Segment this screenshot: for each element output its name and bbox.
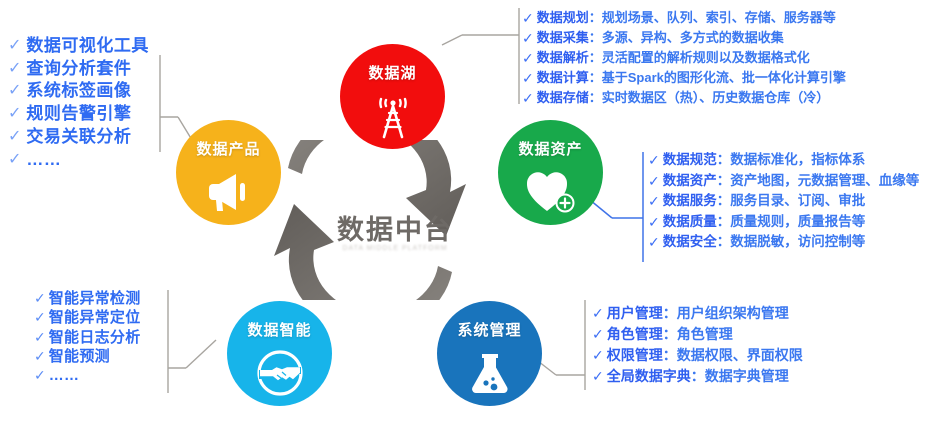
list-item-keyword: 交易关联分析 [26,127,131,148]
check-icon: ✓ [8,104,21,124]
check-icon: ✓ [522,90,534,107]
list-item: ✓…… [34,367,141,385]
list-item-keyword: 数据资产 [663,173,717,189]
check-icon: ✓ [34,290,46,307]
list-item-keyword: …… [49,367,80,385]
heart-plus-icon [525,159,577,225]
list-item: ✓智能异常检测 [34,290,141,308]
list-item-separator: ： [663,305,677,322]
check-icon: ✓ [8,81,21,101]
list-item-keyword: 数据规划 [537,10,589,26]
list-item-keyword: 全局数据字典 [607,368,691,385]
list-item-keyword: 数据规范 [663,152,717,168]
list-item-keyword: 用户管理 [607,305,663,322]
list-item-keyword: 权限管理 [607,347,663,364]
list-item: ✓数据资产：资产地图，元数据管理、血缘等 [648,173,919,190]
list-item-keyword: 查询分析套件 [26,59,131,80]
list-system-management: ✓用户管理：用户组织架构管理✓角色管理：角色管理✓权限管理：数据权限、界面权限✓… [592,305,803,389]
flask-icon [469,340,511,406]
list-item: ✓数据质量：质量规则，质量报告等 [648,214,919,231]
list-item: ✓数据存储：实时数据区（热）、历史数据仓库（冷） [522,90,846,107]
list-item-description: 用户组织架构管理 [677,305,789,322]
list-item-keyword: 数据存储 [537,90,589,106]
check-icon: ✓ [34,348,46,365]
list-item-description: 基于Spark的图形化流、批一体化计算引擎 [602,70,846,86]
list-item: ✓数据解析：灵活配置的解析规则以及数据格式化 [522,50,846,67]
check-icon: ✓ [34,367,46,384]
check-icon: ✓ [8,150,21,170]
list-item-keyword: …… [26,150,61,171]
check-icon: ✓ [522,30,534,47]
list-item: ✓数据规范：数据标准化，指标体系 [648,152,919,169]
node-label-data-assets: 数据资产 [518,138,582,159]
list-data-intelligence: ✓智能异常检测✓智能异常定位✓智能日志分析✓智能预测✓…… [34,290,141,386]
node-label-data-products: 数据产品 [196,138,260,159]
list-item-keyword: 数据安全 [663,234,717,250]
list-item-keyword: 角色管理 [607,326,663,343]
list-item-separator: ： [663,347,677,364]
node-label-data-intelligence: 数据智能 [247,319,311,340]
node-data-intelligence[interactable]: 数据智能 [227,301,332,406]
diagram-canvas: 数据湖 数据资产 系统管理 [0,0,931,428]
list-item-separator: ： [717,234,731,250]
list-item-keyword: 数据服务 [663,193,717,209]
list-item-keyword: 智能异常检测 [49,290,141,308]
list-item-keyword: 数据可视化工具 [26,36,149,57]
list-item-separator: ： [589,50,602,66]
list-item-description: 资产地图，元数据管理、血缘等 [730,173,919,189]
list-item: ✓数据采集：多源、异构、多方式的数据收集 [522,30,846,47]
node-system-management[interactable]: 系统管理 [437,301,542,406]
list-item-keyword: 智能预测 [49,348,110,366]
list-item: ✓数据计算：基于Spark的图形化流、批一体化计算引擎 [522,70,846,87]
check-icon: ✓ [522,10,534,27]
list-item-description: 角色管理 [677,326,733,343]
list-item-keyword: 规则告警引擎 [26,104,131,125]
list-item-description: 灵活配置的解析规则以及数据格式化 [602,50,810,66]
check-icon: ✓ [592,326,604,343]
list-item: ✓…… [8,150,149,171]
center-subtitle: DATA MIDDLE PLATFORM [315,245,475,252]
node-data-assets[interactable]: 数据资产 [498,120,603,225]
list-item-separator: ： [717,214,731,230]
check-icon: ✓ [648,152,660,169]
list-item-description: 数据脱敏，访问控制等 [730,234,865,250]
list-item-keyword: 智能异常定位 [49,309,141,327]
list-item-keyword: 系统标签画像 [26,81,131,102]
list-item-separator: ： [717,152,731,168]
list-item-keyword: 数据解析 [537,50,589,66]
list-item: ✓系统标签画像 [8,81,149,102]
check-icon: ✓ [8,127,21,147]
check-icon: ✓ [8,59,21,79]
broadcast-tower-icon [372,83,414,149]
list-item-separator: ： [691,368,705,385]
list-item-keyword: 数据计算 [537,70,589,86]
list-item-separator: ： [589,90,602,106]
check-icon: ✓ [648,173,660,190]
list-item: ✓智能异常定位 [34,309,141,327]
list-item-keyword: 数据质量 [663,214,717,230]
check-icon: ✓ [592,305,604,322]
list-item: ✓查询分析套件 [8,59,149,80]
node-data-lake[interactable]: 数据湖 [340,44,445,149]
list-item-separator: ： [589,10,602,26]
list-item: ✓数据服务：服务目录、订阅、审批 [648,193,919,210]
list-item-keyword: 智能日志分析 [49,329,141,347]
check-icon: ✓ [592,347,604,364]
list-item: ✓规则告警引擎 [8,104,149,125]
list-item: ✓全局数据字典：数据字典管理 [592,368,803,385]
center-title: 数据中台 [315,208,475,247]
list-item-keyword: 数据采集 [537,30,589,46]
list-item-description: 规划场景、队列、索引、存储、服务器等 [602,10,836,26]
check-icon: ✓ [648,214,660,231]
list-item-description: 数据字典管理 [705,368,789,385]
list-item-description: 实时数据区（热）、历史数据仓库（冷） [602,90,830,106]
list-item-separator: ： [717,193,731,209]
node-label-data-lake: 数据湖 [368,62,416,83]
check-icon: ✓ [522,70,534,87]
list-item: ✓智能预测 [34,348,141,366]
list-item: ✓角色管理：角色管理 [592,326,803,343]
list-item-description: 数据标准化，指标体系 [730,152,865,168]
list-item: ✓数据安全：数据脱敏，访问控制等 [648,234,919,251]
list-item-separator: ： [717,173,731,189]
list-item: ✓交易关联分析 [8,127,149,148]
list-item-description: 服务目录、订阅、审批 [730,193,865,209]
megaphone-icon [206,159,252,225]
check-icon: ✓ [522,50,534,67]
list-item-description: 数据权限、界面权限 [677,347,803,364]
list-data-assets: ✓数据规范：数据标准化，指标体系✓数据资产：资产地图，元数据管理、血缘等✓数据服… [648,152,919,255]
list-item: ✓用户管理：用户组织架构管理 [592,305,803,322]
node-data-products[interactable]: 数据产品 [176,120,281,225]
list-item: ✓数据规划：规划场景、队列、索引、存储、服务器等 [522,10,846,27]
check-icon: ✓ [648,234,660,251]
list-item-separator: ： [663,326,677,343]
check-icon: ✓ [8,36,21,56]
list-item-separator: ： [589,30,602,46]
list-data-lake: ✓数据规划：规划场景、队列、索引、存储、服务器等✓数据采集：多源、异构、多方式的… [522,10,846,110]
list-item-separator: ： [589,70,602,86]
check-icon: ✓ [592,368,604,385]
list-item-description: 质量规则，质量报告等 [730,214,865,230]
list-data-products: ✓数据可视化工具✓查询分析套件✓系统标签画像✓规则告警引擎✓交易关联分析✓…… [8,36,149,172]
node-label-system-management: 系统管理 [457,319,521,340]
list-item: ✓数据可视化工具 [8,36,149,57]
check-icon: ✓ [34,329,46,346]
handshake-icon [255,340,305,406]
list-item: ✓权限管理：数据权限、界面权限 [592,347,803,364]
check-icon: ✓ [34,309,46,326]
list-item: ✓智能日志分析 [34,329,141,347]
check-icon: ✓ [648,193,660,210]
list-item-description: 多源、异构、多方式的数据收集 [602,30,784,46]
